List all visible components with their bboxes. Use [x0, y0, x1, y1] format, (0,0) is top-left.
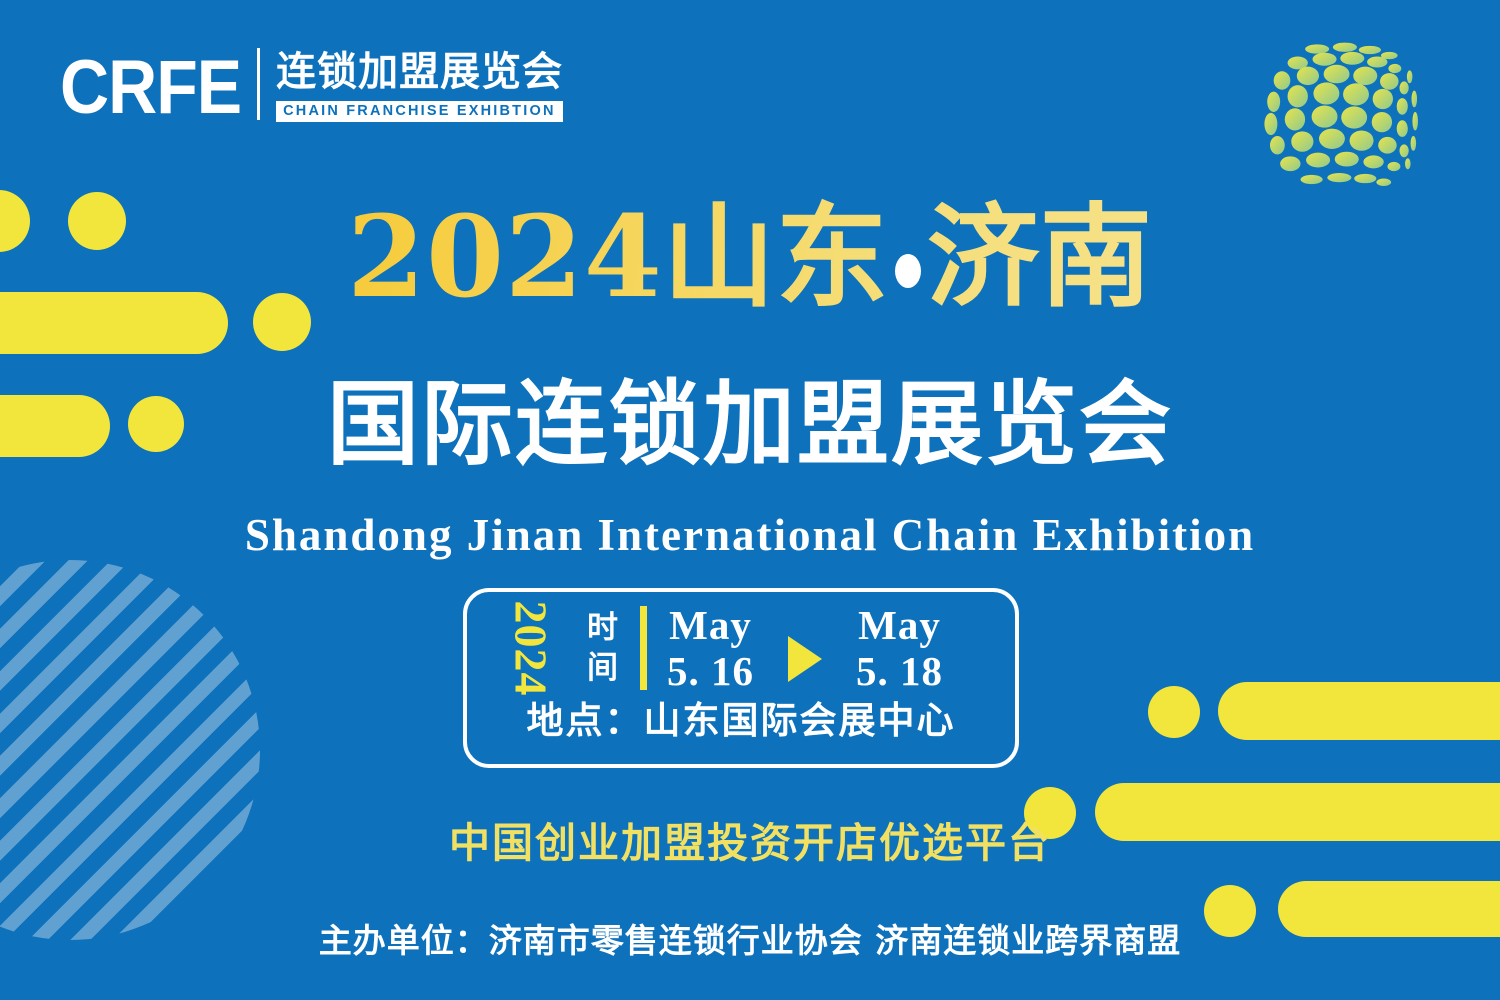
page-subtitle: 国际连锁加盟展览会 [0, 372, 1500, 476]
start-date: May 5. 16 [667, 602, 754, 694]
end-day: 5. 18 [856, 648, 943, 694]
title-part-1: 2024山东 [347, 192, 889, 323]
date-range: May 5. 16 May 5. 18 [667, 602, 943, 694]
end-date: May 5. 18 [856, 602, 943, 694]
crfe-logo: CRFE 连锁加盟展览会 CHAIN FRANCHISE EXHIBTION [60, 48, 563, 122]
organizer-line: 主办单位：济南市零售连锁行业协会 济南连锁业跨界商盟 [0, 920, 1500, 962]
decor-bar-right-1 [1218, 682, 1500, 740]
striped-circle-icon [0, 560, 260, 940]
logo-english-name: CHAIN FRANCHISE EXHIBTION [276, 101, 563, 122]
time-label-char-2: 间 [587, 648, 618, 688]
event-year: 2024 [505, 592, 558, 704]
time-label: 时 间 [587, 608, 618, 688]
decor-dot-right-1 [1148, 686, 1200, 738]
english-title: Shandong Jinan International Chain Exhib… [0, 508, 1500, 562]
event-info-box: 2024 时 间 May 5. 16 May 5. 18 地点：山东国际会展中心 [463, 588, 1019, 768]
logo-mark: CRFE [60, 48, 241, 126]
title-part-2: 济南 [927, 192, 1153, 323]
start-month: May [667, 602, 754, 648]
start-day: 5. 16 [667, 648, 754, 694]
end-month: May [856, 602, 943, 648]
time-label-char-1: 时 [587, 608, 618, 648]
venue-text: 地点：山东国际会展中心 [467, 698, 1015, 742]
page-title: 2024山东济南 [0, 198, 1500, 318]
title-dot-separator-icon [895, 254, 921, 288]
info-vertical-divider [640, 606, 647, 690]
logo-divider [257, 48, 260, 120]
logo-chinese-name: 连锁加盟展览会 [276, 48, 563, 96]
dotted-globe-icon [1245, 25, 1430, 210]
poster-canvas: CRFE 连锁加盟展览会 CHAIN FRANCHISE EXHIBTION 2… [0, 0, 1500, 1000]
play-triangle-icon [788, 636, 822, 682]
tagline: 中国创业加盟投资开店优选平台 [0, 818, 1500, 868]
